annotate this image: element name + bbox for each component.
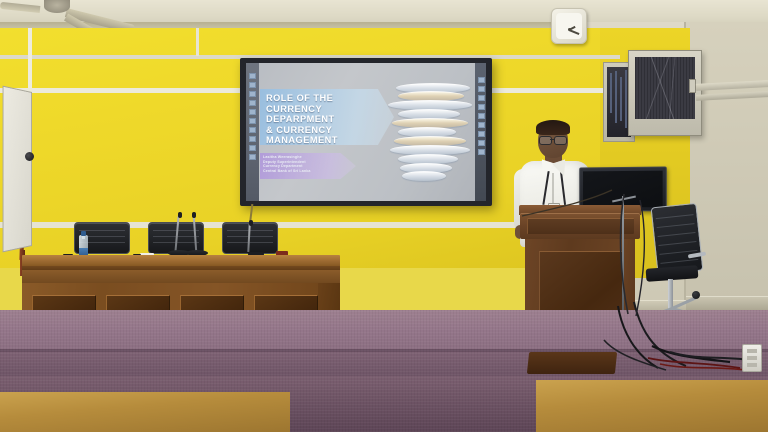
slide-title: CURRENCY <box>266 104 388 115</box>
water-bottle[interactable] <box>79 229 88 257</box>
laptop-cable <box>516 186 636 226</box>
projection-screen: ROLE OF THE CURRENCY DEPARPMENT & CURREN… <box>240 58 492 206</box>
microphone-head <box>178 212 182 218</box>
network-cabinet <box>628 50 702 136</box>
slide-title: DEPARPMENT <box>266 114 388 125</box>
cabinet-wire <box>610 73 612 113</box>
slide-title: ROLE OF THE <box>266 93 388 104</box>
slide-subtitle: Central Bank of Sri Lanka <box>263 169 355 174</box>
slide-right-decor-bar <box>475 63 486 201</box>
wall-stripe-vertical <box>196 28 199 56</box>
whiteboard <box>3 86 32 253</box>
cabinet-mesh-door <box>635 57 695 119</box>
bottle-body <box>79 235 88 257</box>
slide-title: & CURRENCY <box>266 125 388 136</box>
microphone-head <box>192 212 196 218</box>
foreground-desk-left <box>0 392 290 432</box>
power-strip[interactable] <box>742 344 762 372</box>
cabinet-latch <box>689 79 696 93</box>
cabinet-wire <box>620 77 622 121</box>
clock-pin <box>568 28 571 31</box>
bottle-cap <box>81 231 86 236</box>
conference-hall-photo: ROLE OF THE CURRENCY DEPARPMENT & CURREN… <box>0 0 768 432</box>
office-chair-caster <box>692 291 700 299</box>
foreground-desk-right <box>536 380 768 432</box>
whiteboard-knob <box>25 152 34 161</box>
glasses-bridge <box>550 139 555 140</box>
ceiling-fan-icon <box>44 0 70 13</box>
cabinet-wire <box>615 71 617 123</box>
presenter-hair <box>536 120 570 135</box>
wall-clock-icon <box>551 8 587 44</box>
microphone-head <box>249 220 253 226</box>
cabinet-wire <box>625 70 627 128</box>
slide-left-decor-bar <box>246 63 259 201</box>
screen-surface: ROLE OF THE CURRENCY DEPARPMENT & CURREN… <box>246 63 486 201</box>
presentation-slide: ROLE OF THE CURRENCY DEPARPMENT & CURREN… <box>246 63 486 201</box>
wall-stripe-vertical <box>28 28 32 88</box>
clock-face <box>556 13 582 39</box>
slide-title: MANAGEMENT <box>266 135 388 146</box>
table-apron <box>22 270 340 284</box>
